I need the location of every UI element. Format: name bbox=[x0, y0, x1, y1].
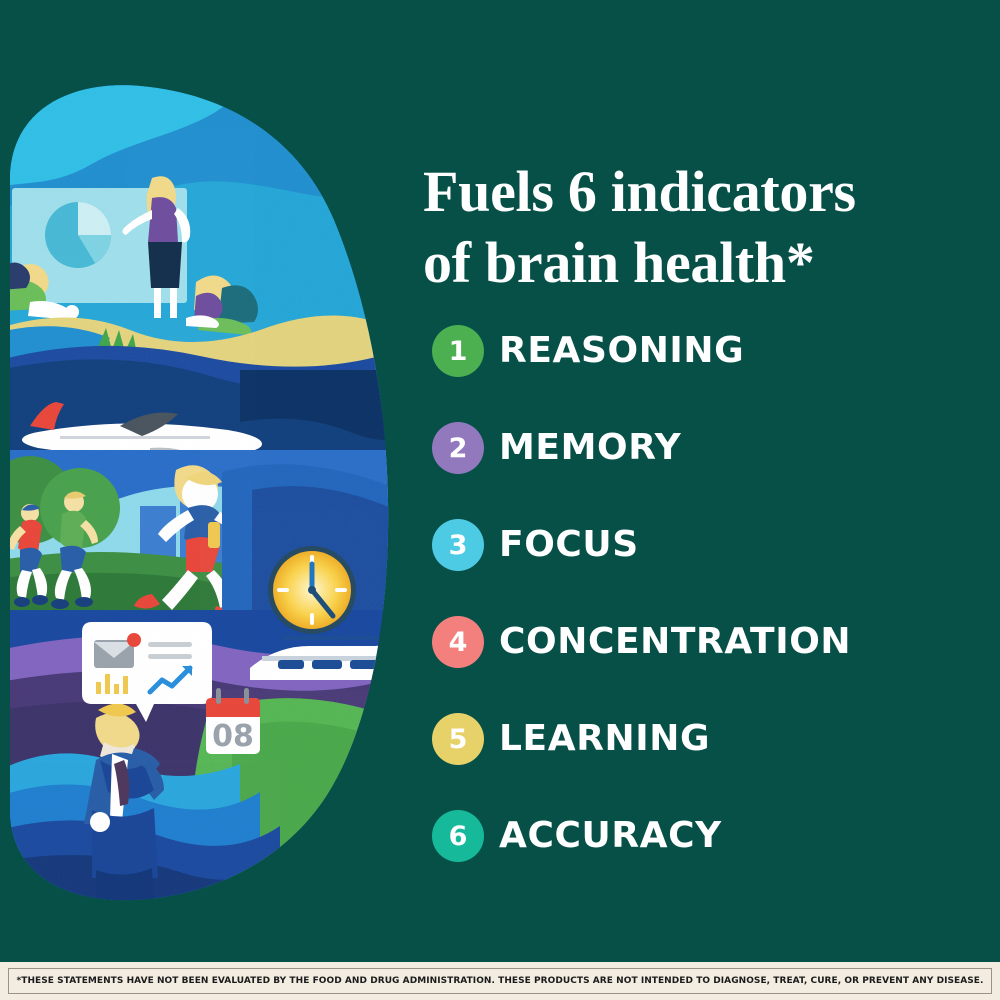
headline-line-2: of brain health* bbox=[423, 228, 968, 299]
indicator-label-memory: MEMORY bbox=[499, 430, 681, 466]
indicator-row: 6ACCURACY bbox=[432, 803, 977, 869]
indicator-row: 4CONCENTRATION bbox=[432, 609, 977, 675]
indicator-row: 5LEARNING bbox=[432, 706, 977, 772]
brain-silhouette: 08 bbox=[0, 70, 400, 910]
indicator-label-learning: LEARNING bbox=[499, 721, 710, 757]
indicator-badge-focus: 3 bbox=[432, 519, 484, 571]
indicator-label-concentration: CONCENTRATION bbox=[499, 624, 851, 660]
page-title: Fuels 6 indicators of brain health* bbox=[423, 157, 968, 299]
indicator-badge-reasoning: 1 bbox=[432, 325, 484, 377]
indicator-list: 1REASONING2MEMORY3FOCUS4CONCENTRATION5LE… bbox=[432, 318, 977, 900]
indicator-row: 1REASONING bbox=[432, 318, 977, 384]
indicator-badge-concentration: 4 bbox=[432, 616, 484, 668]
footer-inner-frame: *THESE STATEMENTS HAVE NOT BEEN EVALUATE… bbox=[8, 968, 992, 994]
indicator-row: 3FOCUS bbox=[432, 512, 977, 578]
brain-illustration: 08 bbox=[0, 70, 400, 910]
disclaimer-text: *THESE STATEMENTS HAVE NOT BEEN EVALUATE… bbox=[17, 976, 984, 986]
indicator-badge-accuracy: 6 bbox=[432, 810, 484, 862]
indicator-badge-learning: 5 bbox=[432, 713, 484, 765]
headline-line-1: Fuels 6 indicators bbox=[423, 157, 968, 228]
indicator-label-accuracy: ACCURACY bbox=[499, 818, 722, 854]
indicator-badge-memory: 2 bbox=[432, 422, 484, 474]
footer-disclaimer-bar: *THESE STATEMENTS HAVE NOT BEEN EVALUATE… bbox=[0, 962, 1000, 1000]
indicator-label-reasoning: REASONING bbox=[499, 333, 744, 369]
poster-root: 08 Fuels 6 indicators of brain health* 1… bbox=[0, 0, 1000, 1000]
indicator-row: 2MEMORY bbox=[432, 415, 977, 481]
indicator-label-focus: FOCUS bbox=[499, 527, 639, 563]
